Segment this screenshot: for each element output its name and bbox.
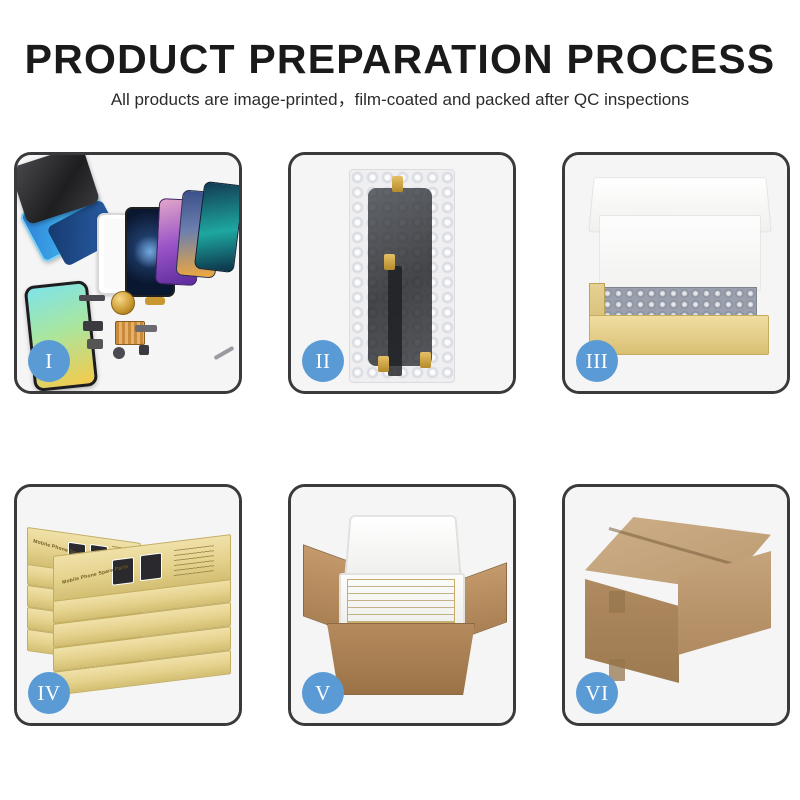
display-flex-cable: [388, 266, 402, 376]
sim-tray-part: [135, 325, 157, 332]
carton-left-face: [585, 579, 679, 683]
screwdriver-tool: [213, 346, 234, 360]
process-step-panel-1: I: [14, 152, 242, 394]
page-header: PRODUCT PREPARATION PROCESS All products…: [0, 0, 800, 110]
carton-tape-upper: [609, 591, 625, 613]
step-badge-5: V: [302, 672, 344, 714]
button-flex-part: [113, 347, 125, 359]
vibrator-part: [139, 345, 149, 355]
process-step-panel-6: VI: [562, 484, 790, 726]
flex-cable-part: [79, 295, 105, 301]
bubble-wrap-bag: [349, 169, 455, 383]
lid-window-right-b: [140, 553, 162, 582]
camera-module-part: [83, 321, 103, 331]
speaker-component: [111, 291, 135, 315]
process-step-panel-2: II: [288, 152, 516, 394]
step-badge-1: I: [28, 340, 70, 382]
step-badge-4: IV: [28, 672, 70, 714]
step-badge-3: III: [576, 340, 618, 382]
process-step-grid: I II III: [14, 152, 790, 726]
packed-kraft-boxes: [347, 579, 455, 623]
page-subtitle: All products are image-printed，film-coat…: [0, 90, 800, 110]
foam-box-lid: [344, 515, 462, 580]
gold-contact-top: [392, 176, 403, 192]
step-badge-6: VI: [576, 672, 618, 714]
gold-contact-lower-left: [378, 356, 389, 372]
process-step-panel-4: Mobile Phone Spare Parts Mobile Phone Sp…: [14, 484, 242, 726]
process-step-panel-3: III: [562, 152, 790, 394]
gold-contact-lower-right: [420, 352, 431, 368]
carton-front-wall: [327, 623, 475, 695]
kraft-box-front: [589, 315, 769, 355]
lid-spec-lines-right: [174, 543, 214, 576]
connector-part: [145, 297, 165, 305]
page-title: PRODUCT PREPARATION PROCESS: [0, 38, 800, 81]
step-badge-2: II: [302, 340, 344, 382]
gold-contact-mid: [384, 254, 395, 270]
foam-sheet: [599, 215, 761, 291]
battery-part: [87, 339, 103, 349]
process-step-panel-5: V: [288, 484, 516, 726]
